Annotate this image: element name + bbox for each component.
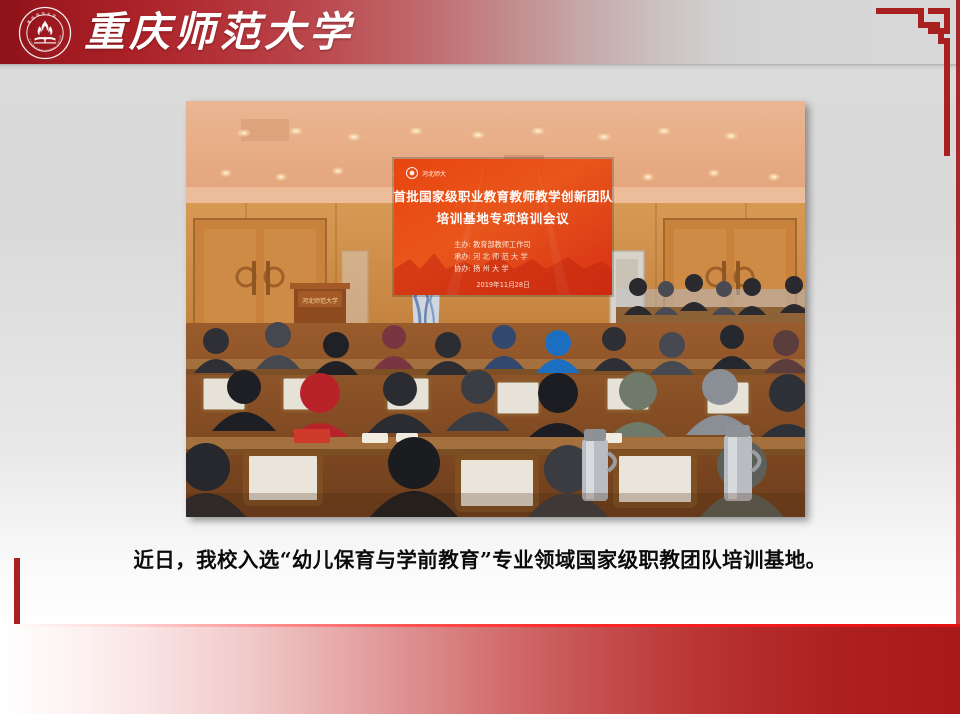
svg-text:首批国家级职业教育教师教学创新团队: 首批国家级职业教育教师教学创新团队 xyxy=(393,189,612,204)
footer-band xyxy=(0,627,960,714)
svg-text:重庆师范大学: 重庆师范大学 xyxy=(26,11,58,25)
conference-photo: 河北师大 首批国家级职业教育教师教学创新团队 培训基地专项培训会议 主办: 教育… xyxy=(186,101,805,517)
header-shadow xyxy=(0,64,960,70)
conference-photo-frame: 河北师大 首批国家级职业教育教师教学创新团队 培训基地专项培训会议 主办: 教育… xyxy=(186,101,805,517)
svg-text:主办: 教育部教师工作司: 主办: 教育部教师工作司 xyxy=(454,240,531,249)
slide-canvas: 重庆师范大学 CHONGQING NORMAL UNIVERSITY 重庆师范大… xyxy=(0,0,960,720)
svg-text:2019年11月28日: 2019年11月28日 xyxy=(476,280,529,289)
svg-text:培训基地专项培训会议: 培训基地专项培训会议 xyxy=(436,211,569,226)
svg-text:河北师大: 河北师大 xyxy=(422,170,446,178)
svg-text:河北师范大学: 河北师范大学 xyxy=(302,297,338,305)
svg-text:协办: 扬 州 大 学: 协办: 扬 州 大 学 xyxy=(454,264,509,273)
slide-caption: 近日，我校入选“幼儿保育与学前教育”专业领域国家级职教团队培训基地。 xyxy=(0,543,960,573)
university-name-title: 重庆师范大学 xyxy=(84,2,354,62)
slide-bottom-edge xyxy=(0,714,960,720)
right-edge-accent xyxy=(956,0,960,627)
svg-text:承办: 河 北 师 范 大 学: 承办: 河 北 师 范 大 学 xyxy=(454,252,528,261)
university-logo-icon: 重庆师范大学 CHONGQING NORMAL UNIVERSITY xyxy=(18,6,72,60)
decorative-corner-top-right xyxy=(876,8,954,156)
